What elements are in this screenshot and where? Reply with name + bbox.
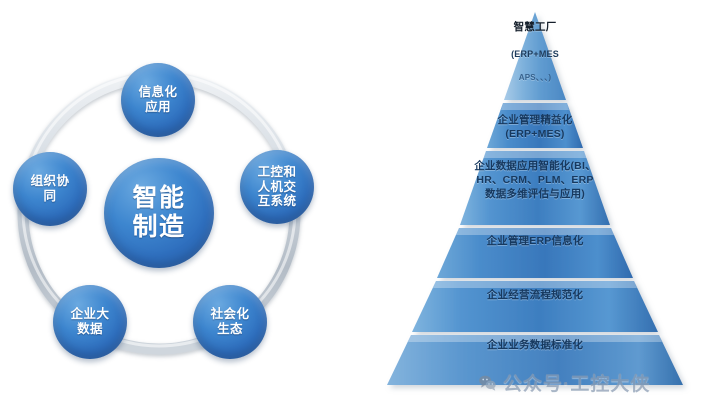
pyramid-tier-1-label: 智慧工厂 (ERP+MES APS、、、)	[450, 8, 620, 96]
pyramid-tier-3-label: 企业数据应用智能化(BI、 HR、CRM、PLM、ERP 数据多维评估与应用)	[422, 160, 648, 202]
hub-node-organizational-collaboration[interactable]: 组织协 同	[13, 152, 87, 226]
wechat-icon	[478, 373, 497, 392]
pyramid-tier-4-label: 企业管理ERP信息化	[412, 235, 658, 249]
hub-node-informatization-application[interactable]: 信息化 应用	[121, 63, 195, 137]
maturity-pyramid-diagram: 智慧工厂 (ERP+MES APS、、、) 企业管理精益化 (ERP+MES) …	[350, 0, 720, 404]
pyramid-tier-6-label: 企业业务数据标准化	[390, 339, 680, 353]
hub-node-social-ecosystem[interactable]: 社会化 生态	[193, 285, 267, 359]
image-canvas: 智能 制造 信息化 应用 工控和 人机交 互系统 组织协 同 企业大 数据 社会…	[0, 0, 720, 404]
pyramid-apex-sub: (ERP+MES	[450, 49, 620, 61]
watermark: 公众号·工控大侠	[478, 369, 650, 396]
pyramid-apex-sub2: APS、、、)	[450, 73, 620, 84]
hub-node-label: 社会化 生态	[211, 307, 250, 337]
hub-node-industrial-control-hmi[interactable]: 工控和 人机交 互系统	[240, 150, 314, 224]
hub-node-label: 企业大 数据	[71, 307, 110, 337]
hub-node-enterprise-big-data[interactable]: 企业大 数据	[53, 285, 127, 359]
hub-node-label: 信息化 应用	[139, 85, 178, 115]
hub-center-node[interactable]: 智能 制造	[104, 158, 214, 268]
smart-manufacturing-hub-diagram: 智能 制造 信息化 应用 工控和 人机交 互系统 组织协 同 企业大 数据 社会…	[0, 0, 350, 404]
hub-node-label: 工控和 人机交 互系统	[258, 165, 297, 209]
hub-node-label: 组织协 同	[31, 174, 70, 204]
hub-center-label: 智能 制造	[132, 184, 185, 243]
pyramid-apex-title: 智慧工厂	[450, 21, 620, 35]
pyramid-tier-2-label: 企业管理精益化 (ERP+MES)	[445, 114, 625, 142]
watermark-text: 公众号·工控大侠	[503, 369, 650, 396]
pyramid-tier-5-label: 企业经营流程规范化	[402, 289, 668, 303]
